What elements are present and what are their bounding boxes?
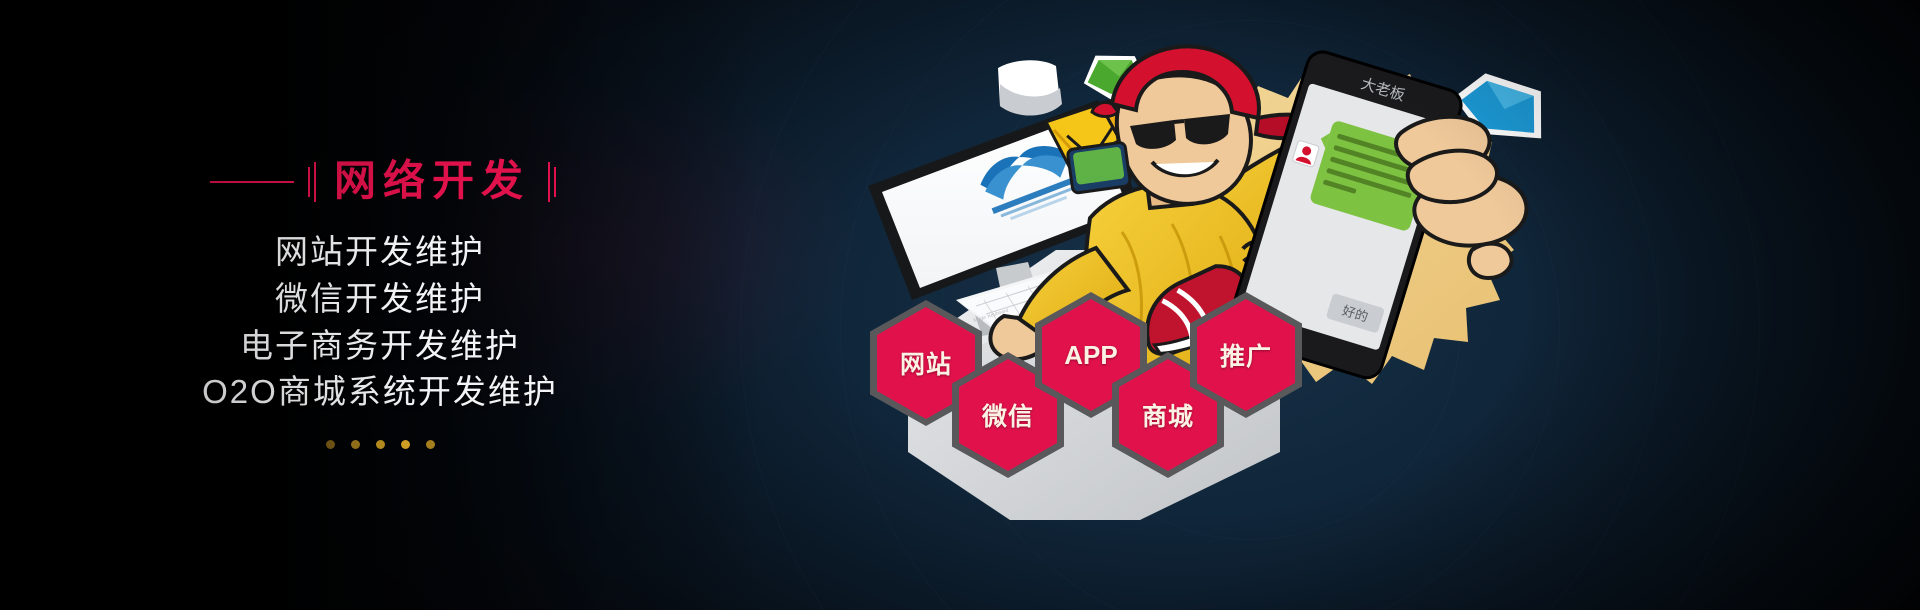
text-column: 网络开发 网站开发维护 微信开发维护 电子商务开发维护 O2O商城系统开发维护	[0, 0, 760, 610]
dot-icon	[351, 440, 360, 449]
service-list: 网站开发维护 微信开发维护 电子商务开发维护 O2O商城系统开发维护	[202, 229, 558, 416]
service-line: O2O商城系统开发维护	[202, 369, 558, 416]
hexagon-badge-promotion[interactable]: 推广	[1190, 292, 1302, 418]
hexagon-label: 推广	[1190, 292, 1302, 418]
headline-row: 网络开发	[210, 161, 556, 203]
double-bar-right-icon	[548, 162, 556, 202]
service-line: 网站开发维护	[202, 229, 558, 276]
service-line: 微信开发维护	[202, 276, 558, 323]
dot-icon	[376, 440, 385, 449]
dot-icon	[401, 440, 410, 449]
dot-icon	[326, 440, 335, 449]
flying-paper-white	[998, 60, 1062, 115]
decorative-dots	[326, 440, 435, 449]
service-line: 电子商务开发维护	[202, 323, 558, 370]
double-bar-left-icon	[308, 162, 316, 202]
rule-line-icon	[210, 181, 294, 183]
web-development-banner: 网络开发 网站开发维护 微信开发维护 电子商务开发维护 O2O商城系统开发维护	[0, 0, 1920, 610]
illustration: Magic Keyboard	[760, 0, 1920, 610]
dot-icon	[426, 440, 435, 449]
page-title: 网络开发	[330, 161, 534, 203]
